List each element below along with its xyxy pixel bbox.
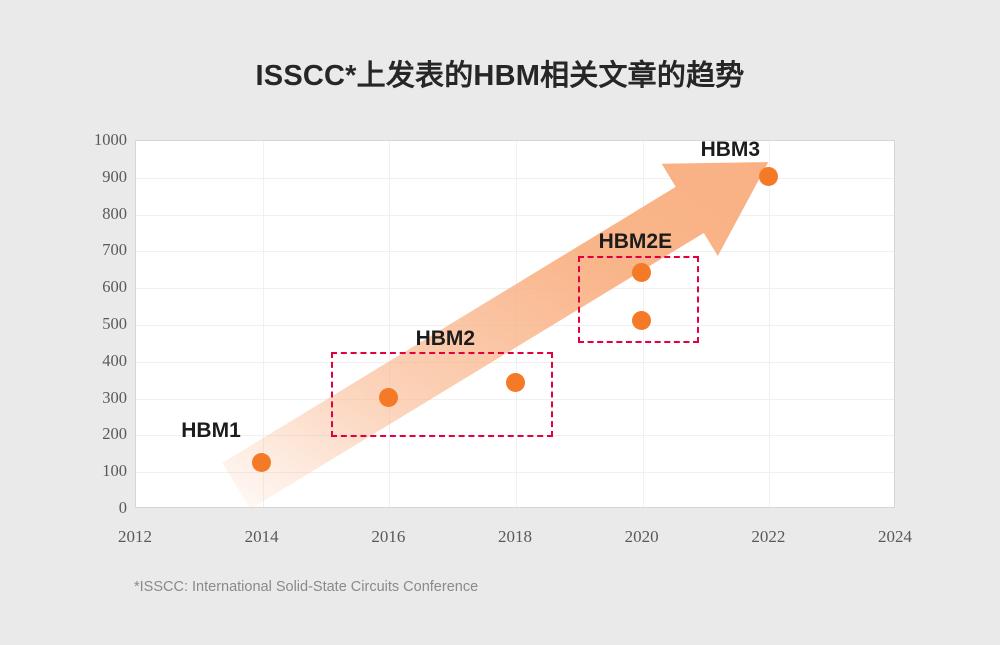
series-label-hbm3: HBM3 xyxy=(701,138,761,162)
data-point xyxy=(506,373,525,392)
data-point xyxy=(632,263,651,282)
chart-overlay: HBM1HBM2HBM2EHBM320122014201620182020202… xyxy=(0,0,1000,645)
x-axis-tick: 2024 xyxy=(850,527,940,547)
data-point xyxy=(379,388,398,407)
x-axis-tick: 2016 xyxy=(343,527,433,547)
series-label-hbm1: HBM1 xyxy=(181,419,241,443)
x-axis-tick: 2018 xyxy=(470,527,560,547)
x-axis-tick: 2014 xyxy=(217,527,307,547)
footnote: *ISSCC: International Solid-State Circui… xyxy=(134,579,478,595)
data-point xyxy=(252,453,271,472)
group-box-hbm2 xyxy=(331,352,553,438)
data-point xyxy=(759,167,778,186)
series-label-hbm2e: HBM2E xyxy=(599,230,673,254)
chart-page: ISSCC*上发表的HBM相关文章的趋势 0100200300400500600… xyxy=(0,0,1000,645)
x-axis-tick: 2020 xyxy=(597,527,687,547)
series-label-hbm2: HBM2 xyxy=(416,327,476,351)
x-axis-tick: 2012 xyxy=(90,527,180,547)
data-point xyxy=(632,311,651,330)
x-axis-tick: 2022 xyxy=(723,527,813,547)
